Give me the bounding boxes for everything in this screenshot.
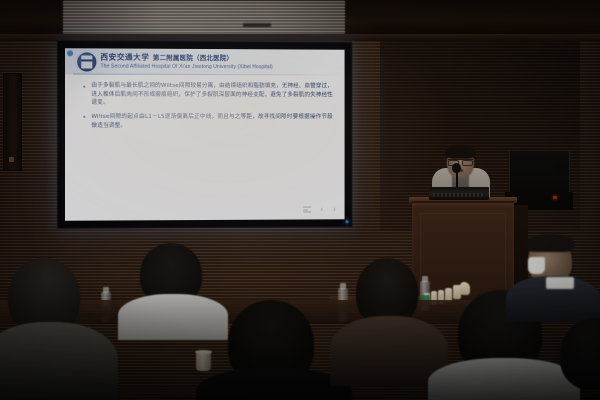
lecture-hall-photo: 西安交通大学 第二附属医院（西北医院） The Second Affiliate…: [0, 0, 600, 400]
room-vignette: [0, 0, 600, 400]
